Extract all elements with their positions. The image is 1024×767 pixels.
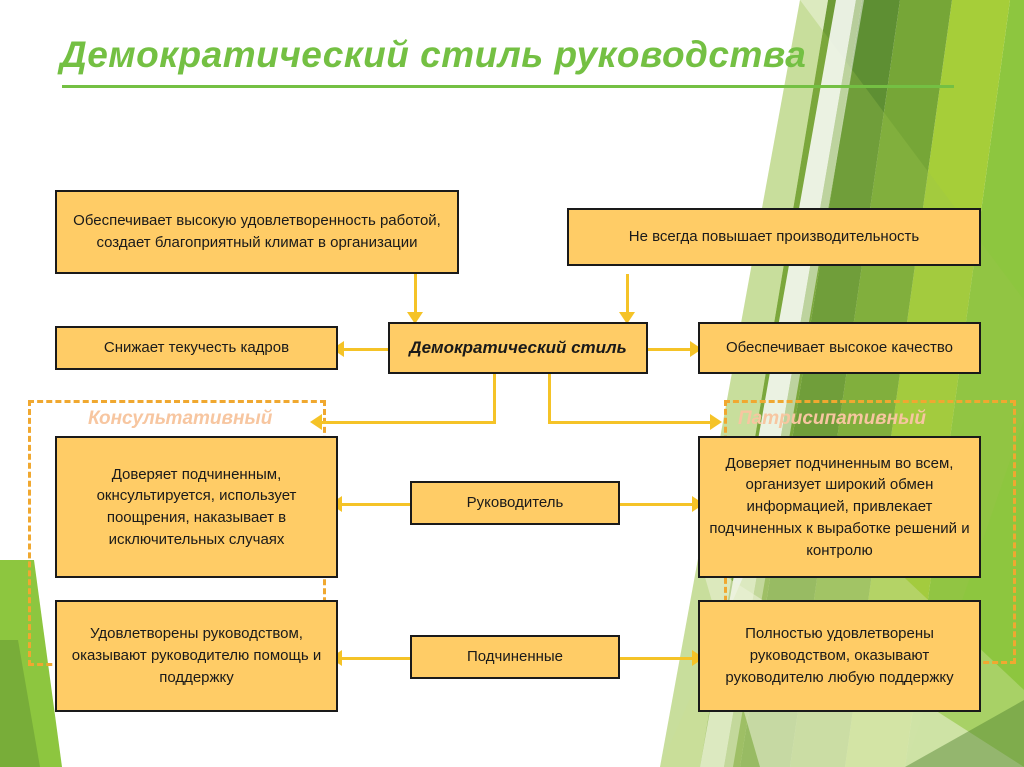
connector-branch-to-participative (548, 421, 713, 424)
connector-topright-to-center (626, 274, 629, 316)
connector-branch-to-consultative (318, 421, 496, 424)
node-mid-left[interactable]: Снижает текучесть кадров (55, 326, 338, 370)
connector-subordinates-to-left (338, 657, 410, 660)
node-top-right[interactable]: Не всегда повышает производительность (567, 208, 981, 266)
node-center-democratic-style[interactable]: Демократический стиль (388, 322, 648, 374)
connector-center-down-right (548, 374, 551, 424)
node-subordinates[interactable]: Подчиненные (410, 635, 620, 679)
node-participative-leader[interactable]: Доверяет подчиненным во всем, организует… (698, 436, 981, 578)
arrow-branch-to-consultative (310, 414, 322, 430)
title-underline (62, 85, 954, 88)
node-participative-subordinates[interactable]: Полностью удовлетворены руководством, ок… (698, 600, 981, 712)
node-consultative-leader[interactable]: Доверяет подчиненным, окнсультируется, и… (55, 436, 338, 578)
connector-topleft-to-center (414, 274, 417, 316)
node-leader[interactable]: Руководитель (410, 481, 620, 525)
connector-center-down-left (493, 374, 496, 424)
group-label-consultative: Консультативный (88, 408, 272, 430)
slide-canvas: Демократический стиль руководства Консул… (0, 0, 1024, 767)
arrow-branch-to-participative (710, 414, 722, 430)
connector-leader-to-right (620, 503, 698, 506)
page-title: Демократический стиль руководства (60, 34, 806, 76)
node-mid-right[interactable]: Обеспечивает высокое качество (698, 322, 981, 374)
group-label-participative: Патрисипативный (738, 408, 926, 430)
connector-center-to-midright (648, 348, 696, 351)
connector-subordinates-to-right (620, 657, 698, 660)
connector-leader-to-left (338, 503, 410, 506)
connector-center-to-midleft (340, 348, 388, 351)
node-top-left[interactable]: Обеспечивает высокую удовлетворенность р… (55, 190, 459, 274)
node-consultative-subordinates[interactable]: Удовлетворены руководством, оказывают ру… (55, 600, 338, 712)
